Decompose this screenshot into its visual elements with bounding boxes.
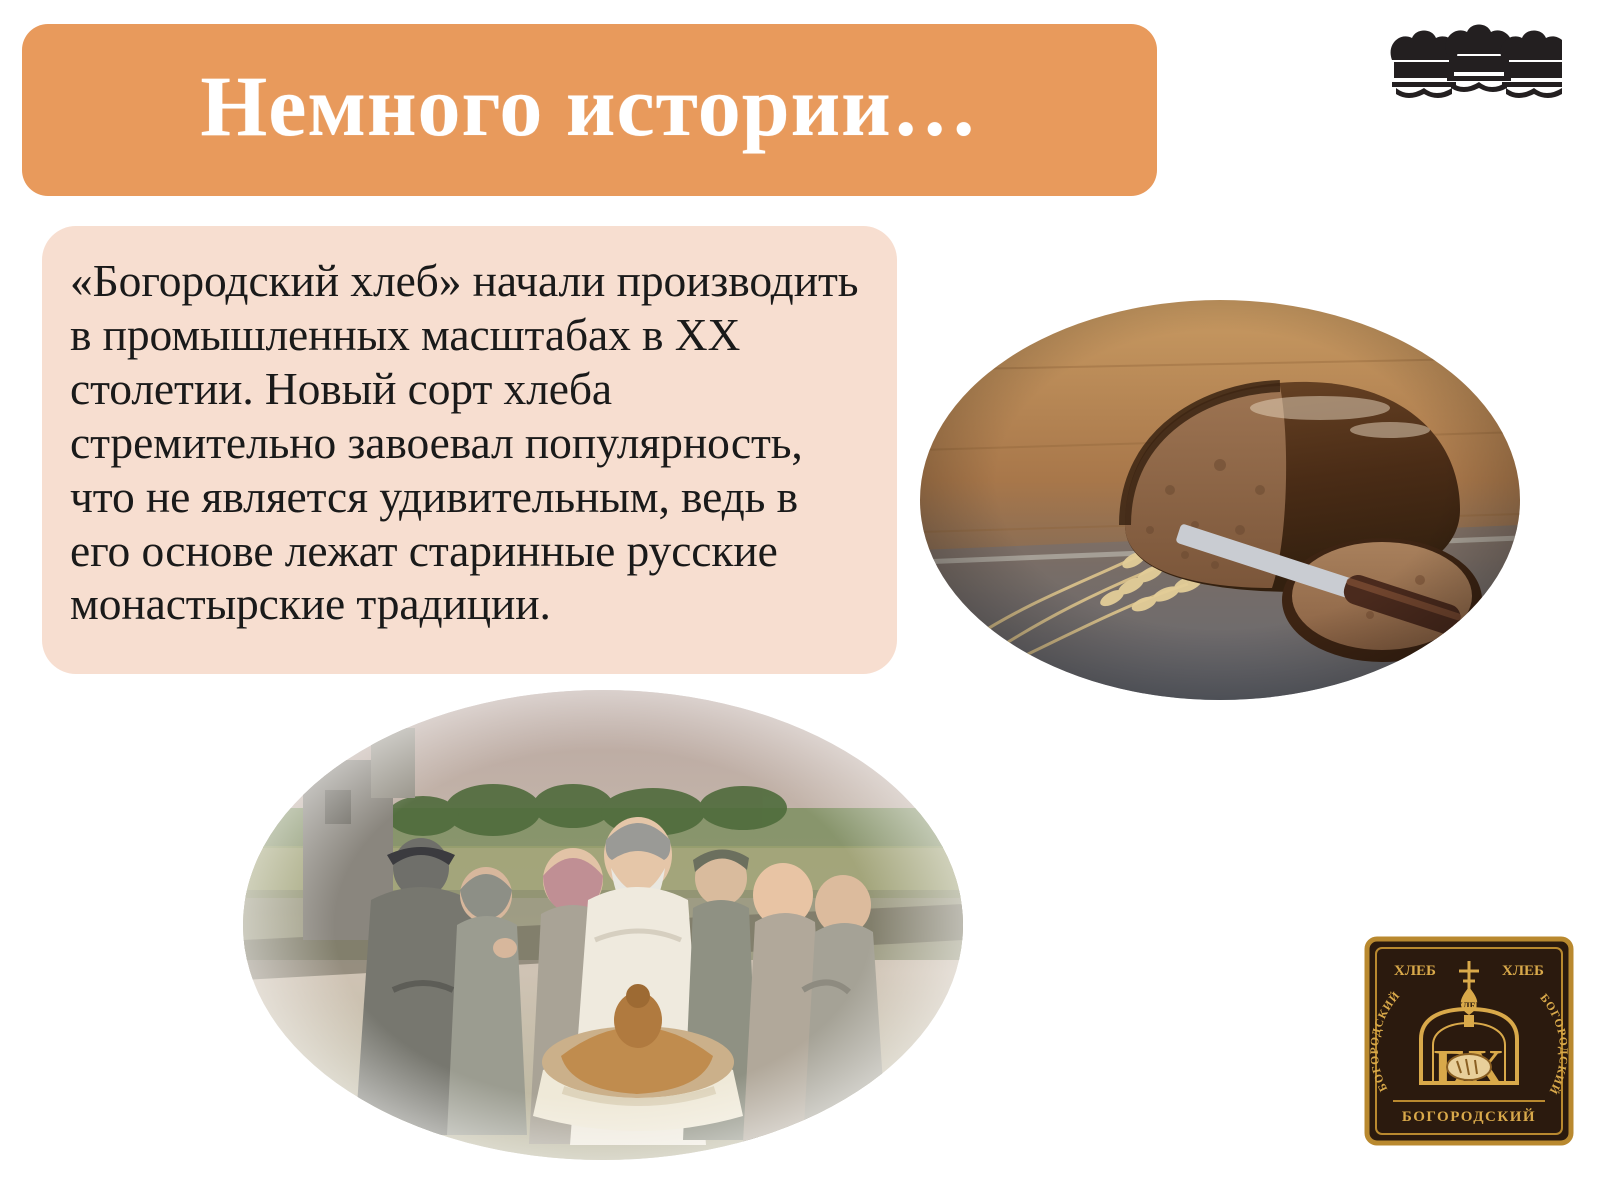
page-title: Немного истории…: [200, 63, 978, 149]
emblem-top-left-word: ХЛЕБ: [1394, 963, 1436, 979]
bread-photo: [920, 300, 1520, 700]
painting-illustration: [243, 690, 963, 1160]
brand-emblem: ХЛЕБ ХЛЕБ БОГОРОДСКИЙ ХЛЕБ БОГОРОДСКИЙ Х…: [1363, 935, 1575, 1147]
title-banner: Немного истории…: [22, 24, 1157, 196]
body-paragraph: «Богородский хлеб» начали производить в …: [70, 254, 867, 631]
emblem-top-right-word: ХЛЕБ: [1502, 963, 1544, 979]
emblem-bottom-word: БОГОРОДСКИЙ: [1402, 1108, 1536, 1125]
body-text-card: «Богородский хлеб» начали производить в …: [42, 226, 897, 674]
chef-hats-icon: [1386, 20, 1562, 130]
